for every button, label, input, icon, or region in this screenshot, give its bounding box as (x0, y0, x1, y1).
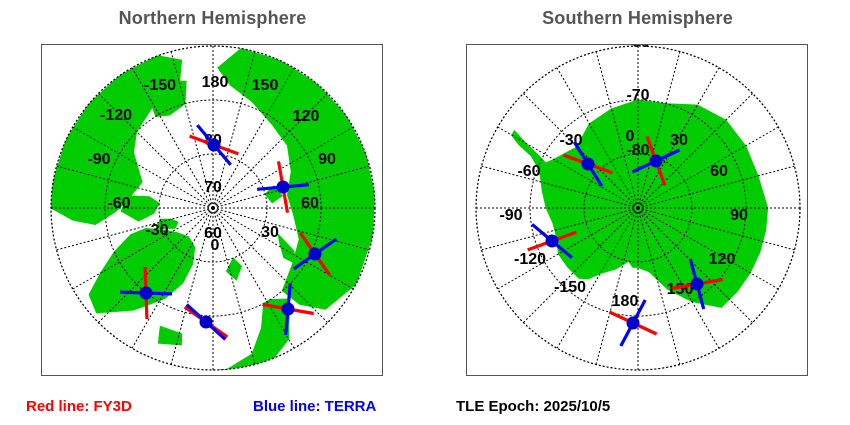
lon-label--60: -60 (107, 195, 130, 212)
lon-label-60: 60 (301, 195, 319, 212)
lon-label-120: 120 (709, 251, 736, 268)
lon-label--120: -120 (100, 107, 132, 124)
polar-plot-south: -80-70-600306090120150180-150-120-90-60-… (467, 45, 807, 375)
polar-satellite-track-figure: Northern Hemisphere 80706018015012090603… (0, 0, 850, 425)
satellite-position-dot (582, 158, 595, 171)
lon-label-30: 30 (670, 132, 688, 149)
plot-frame-north: 8070601801501209060300-30-60-90-120-150 (41, 44, 383, 376)
lat-label--70: -70 (626, 87, 649, 104)
lon-label--60: -60 (517, 163, 540, 180)
lon-label--90: -90 (499, 207, 522, 224)
lon-label-90: 90 (318, 151, 336, 168)
lon-label--120: -120 (514, 251, 546, 268)
lon-label-180: 180 (202, 74, 229, 91)
lat-label--60: -60 (626, 45, 649, 51)
lon-label-180: 180 (612, 293, 639, 310)
lon-label-30: 30 (261, 224, 279, 241)
satellite-position-dot (140, 287, 153, 300)
lon-label-0: 0 (211, 237, 220, 254)
satellite-position-dot (546, 235, 559, 248)
lon-label-150: 150 (252, 77, 279, 94)
satellite-position-dot (277, 181, 290, 194)
legend-red-line: Red line: FY3D (26, 398, 132, 415)
legend-blue-line: Blue line: TERRA (253, 398, 376, 415)
lon-label--90: -90 (87, 151, 110, 168)
satellite-position-dot (627, 317, 640, 330)
lon-label--30: -30 (559, 132, 582, 149)
lat-label-70: 70 (204, 179, 222, 196)
panel-northern-hemisphere: Northern Hemisphere 80706018015012090603… (0, 0, 425, 425)
lon-label--30: -30 (145, 222, 168, 239)
lon-label-120: 120 (293, 108, 320, 125)
lon-label-150: 150 (667, 281, 694, 298)
lon-label-60: 60 (710, 163, 728, 180)
panel-title-south: Southern Hemisphere (425, 8, 850, 29)
satellite-position-dot (208, 139, 221, 152)
polar-plot-north: 8070601801501209060300-30-60-90-120-150 (42, 45, 382, 375)
lon-label-0: 0 (626, 128, 635, 145)
plot-frame-south: -80-70-600306090120150180-150-120-90-60-… (466, 44, 808, 376)
panel-southern-hemisphere: Southern Hemisphere -80-70-6003060901201… (425, 0, 850, 425)
lon-label--150: -150 (554, 279, 586, 296)
lon-label-90: 90 (730, 207, 748, 224)
satellite-position-dot (282, 303, 295, 316)
satellite-position-dot (309, 248, 322, 261)
satellite-position-dot (200, 316, 213, 329)
panel-title-north: Northern Hemisphere (0, 8, 425, 29)
satellite-position-dot (691, 278, 704, 291)
lon-label--150: -150 (144, 77, 176, 94)
satellite-position-dot (650, 155, 663, 168)
legend-tle-epoch: TLE Epoch: 2025/10/5 (456, 398, 610, 415)
